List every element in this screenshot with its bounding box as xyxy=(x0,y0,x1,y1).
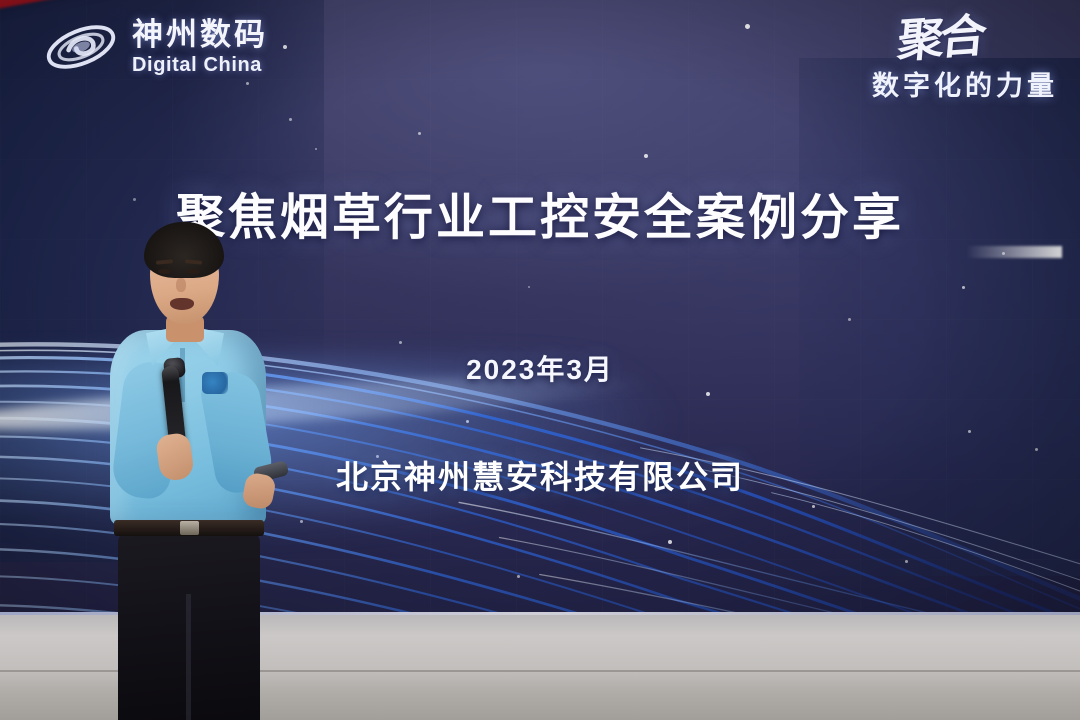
speaker-nose xyxy=(176,278,186,292)
digital-china-name-cn: 神州数码 xyxy=(132,19,268,50)
digital-china-spiral-icon xyxy=(42,16,120,78)
event-brand-mark: 聚合 数字化的力量 xyxy=(872,18,1058,103)
digital-china-logo: 神州数码 Digital China xyxy=(42,16,268,78)
speaker-eye-right xyxy=(187,269,200,274)
speaker-figure xyxy=(96,222,282,642)
speaker-trouser-seam xyxy=(186,594,191,720)
digital-china-name-en: Digital China xyxy=(132,55,268,75)
speaker-hand-holding-clicker xyxy=(241,471,277,510)
event-tagline: 数字化的力量 xyxy=(872,64,1058,103)
event-calligraphy: 聚合 xyxy=(870,14,985,64)
speaker-hair xyxy=(144,222,224,278)
speaker-eye-left xyxy=(158,269,171,274)
conference-stage-photo: 神州数码 Digital China 聚合 数字化的力量 聚焦烟草行业工控安全案… xyxy=(0,0,1080,720)
speaker-belt-buckle xyxy=(180,521,199,535)
speaker-mouth xyxy=(170,298,194,310)
speaker-shirt-logo xyxy=(202,372,228,394)
